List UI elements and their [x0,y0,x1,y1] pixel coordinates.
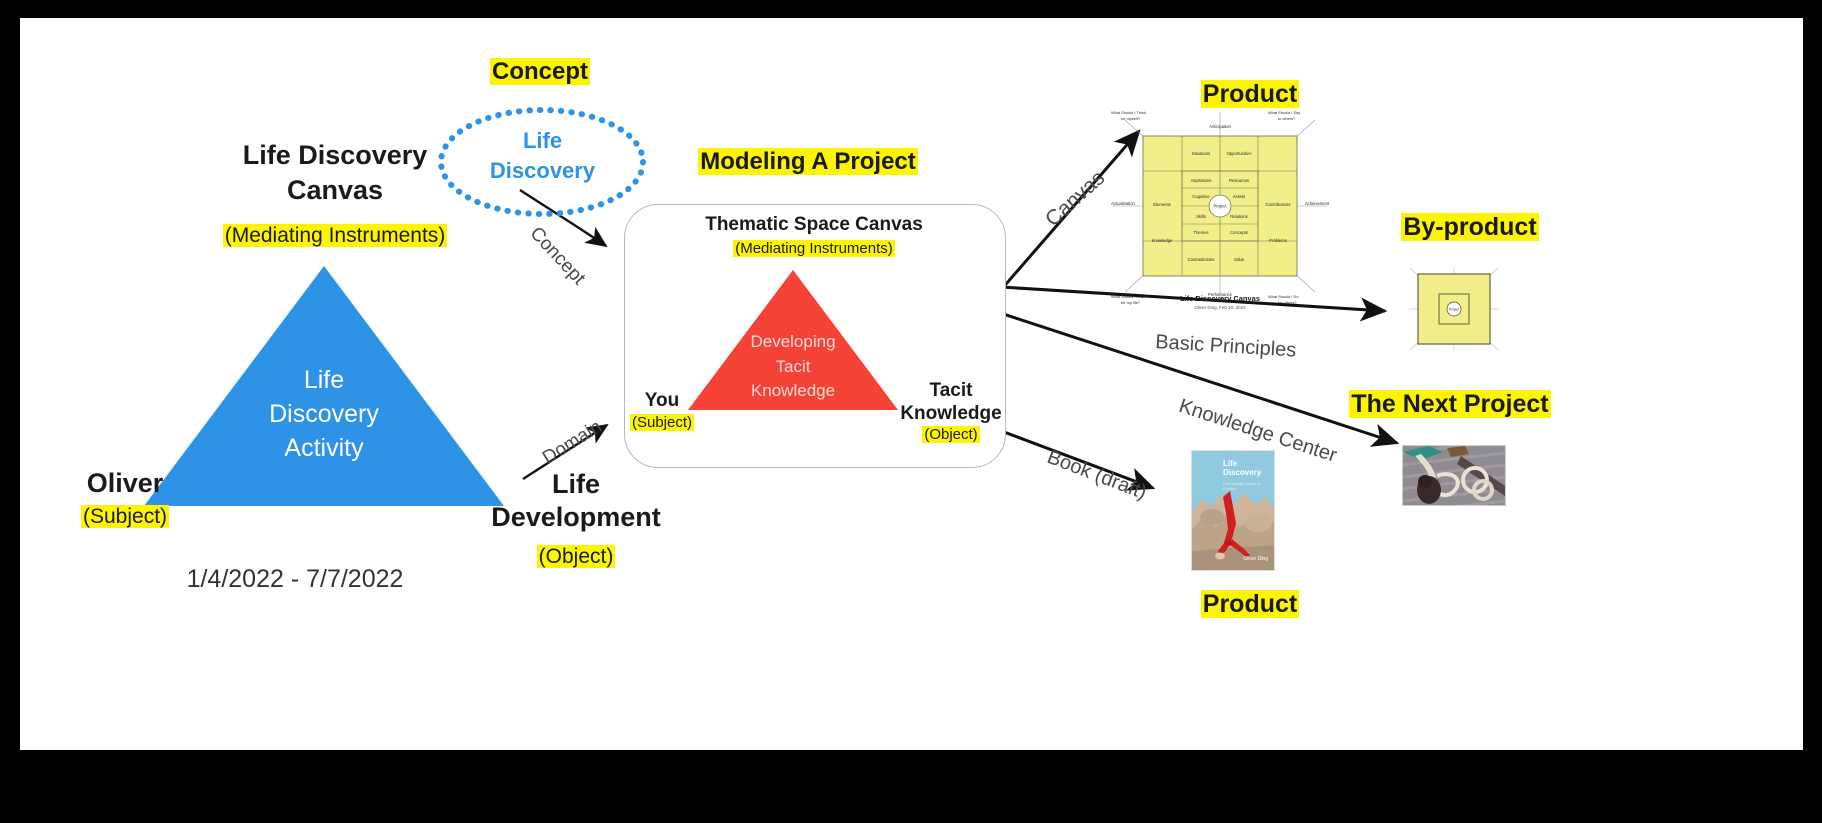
product-canvas-tag: Product [1150,80,1350,109]
tacit-knowledge-line2: Knowledge [878,403,1024,426]
developing-tacit-knowledge-label: Developing Tacit Knowledge [723,330,863,404]
canvas-thumbnail-caption: Life Discovery Canvas [1105,294,1335,303]
life-development-line2: Development [466,501,686,534]
tacit-knowledge-line1: Tacit [878,380,1024,403]
object-role-tacit-knowledge: (Object) [878,426,1024,443]
red-triangle-line2: Tacit [723,355,863,380]
book-cover-title: Life Discovery [1223,459,1269,477]
life-discovery-canvas-subtitle: (Mediating Instruments) [170,224,500,248]
life-discovery-canvas-thumbnail: Project Situations Opportunities Element… [1105,106,1335,306]
subject-name-you: You [616,390,708,412]
concept-label-line2: Discovery [460,156,625,186]
canvas-corner-top-left-1: What Should I Think [1111,110,1146,115]
canvas-corner-top-right-1: What Should I Say [1268,110,1300,115]
concept-tag-text: Concept [490,58,590,85]
subject-role-you: (Subject) [616,414,708,431]
canvas-cell-contradictions: Contradictions [1188,257,1215,262]
canvas-axis-top: Anticipation [1209,124,1231,129]
life-development-role-text: (Object) [537,545,616,568]
canvas-cell-contributions: Contributions [1266,202,1291,207]
modeling-tag-text: Modeling A Project [698,148,918,175]
canvas-cell-elements: Elements [1153,202,1170,207]
concept-tag: Concept [460,58,620,86]
screenshot-frame: Life Discovery Canvas (Mediating Instrum… [0,0,1822,823]
tsc-subtitle-text: (Mediating Instruments) [733,240,895,257]
object-name-tacit-knowledge: Tacit Knowledge [878,380,1024,426]
book-cover-thumbnail: Life Discovery From Activity Theory To P… [1191,450,1275,571]
book-title-line1: Life [1223,459,1269,468]
ldc-subtitle-text: (Mediating Instruments) [223,224,448,247]
activity-date-range: 1/4/2022 - 7/7/2022 [130,565,460,594]
next-project-photo [1403,446,1505,505]
product-book-tag-text: Product [1201,590,1299,618]
book-cover-author: Oliver Ding [1243,556,1268,562]
byproduct-tag-text: By-product [1401,213,1538,241]
canvas-corner-top-left-2: for myself? [1121,116,1141,121]
canvas-cell-opportunities: Opportunities [1227,151,1252,156]
canvas-cell-skills: Skills [1196,214,1206,219]
edge-knowledge-center-arrow [985,308,1397,443]
canvas-axis-left: Actualization [1111,201,1135,206]
book-title-line2: Discovery [1223,468,1269,477]
object-name-life-development: Life Development [466,468,686,534]
product-book-tag: Product [1150,590,1350,619]
canvas-cell-aspirations: Aspirations [1191,178,1212,183]
canvas-cell-situations: Situations [1192,151,1210,156]
subject-role-oliver: (Subject) [50,505,200,529]
canvas-cell-resources: Resources [1229,178,1249,183]
concept-ellipse-label: Life Discovery [460,126,625,186]
canvas-cell-problems: Problems [1269,238,1287,243]
canvas-cell-themes: Themes [1193,230,1208,235]
canvas-cell-assets: Assets [1233,194,1246,199]
canvas-center-label: Project [1213,203,1227,208]
canvas-axis-right: Achievement [1305,201,1330,206]
red-triangle-line3: Knowledge [723,379,863,404]
canvas-thumbnail-subcaption: Oliver Ding, Feb 20, 2022 [1105,305,1335,310]
red-triangle-line1: Developing [723,330,863,355]
canvas-cell-knowledge: Knowledge [1152,238,1173,243]
thematic-space-canvas-title: Thematic Space Canvas [634,214,994,236]
book-cover-subtitle: From Activity Theory To Practice [1223,482,1269,491]
byproduct-tag: By-product [1360,213,1580,242]
canvas-corner-top-right-2: to others? [1278,116,1296,121]
tacit-role-text: (Object) [922,426,979,443]
next-project-thumbnail [1402,445,1506,506]
next-project-tag: The Next Project [1325,390,1575,419]
product-canvas-tag-text: Product [1201,80,1299,108]
byproduct-center-label: Project [1449,307,1459,311]
next-project-tag-text: The Next Project [1349,390,1550,418]
canvas-cell-cognitive: Cognitive [1192,194,1210,199]
you-role-text: (Subject) [630,414,694,431]
canvas-cell-concepts: Concepts [1230,230,1248,235]
oliver-role-text: (Subject) [81,505,169,528]
modeling-a-project-tag: Modeling A Project [688,148,928,176]
subject-name-oliver: Oliver [50,468,200,499]
object-role-life-development: (Object) [466,545,686,569]
thematic-space-canvas-subtitle: (Mediating Instruments) [634,240,994,257]
concept-label-line1: Life [460,126,625,156]
slide-canvas: Life Discovery Canvas (Mediating Instrum… [20,18,1803,750]
life-development-line1: Life [466,468,686,501]
byproduct-thumbnail: Project [1408,266,1500,352]
canvas-cell-relations: Relations [1230,214,1247,219]
canvas-cell-value: Value [1234,257,1245,262]
